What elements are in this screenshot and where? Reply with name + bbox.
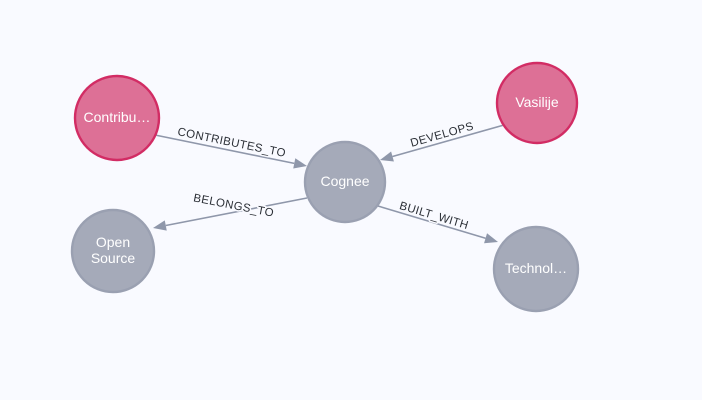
node-label-vasilije: Vasilije <box>515 94 559 110</box>
node-label-cognee: Cognee <box>320 173 369 189</box>
graph-visualization[interactable]: Contribu…VasilijeCogneeOpenSourceTechnol… <box>0 0 702 400</box>
node-label-technology: Technol… <box>505 260 567 276</box>
edge-arrowhead-contributes_to <box>293 158 307 168</box>
graph-canvas[interactable]: Contribu…VasilijeCogneeOpenSourceTechnol… <box>0 0 702 400</box>
edge-label-built_with: BUILT_WITH <box>398 200 470 232</box>
node-label-open_source: OpenSource <box>91 234 136 266</box>
edge-label-belongs_to: BELONGS_TO <box>192 192 275 219</box>
edge-arrowhead-belongs_to <box>153 220 167 230</box>
graph-node-cognee[interactable]: Cognee <box>305 142 385 222</box>
graph-node-vasilije[interactable]: Vasilije <box>497 63 577 143</box>
graph-node-contributor[interactable]: Contribu… <box>75 76 159 160</box>
node-label-contributor: Contribu… <box>84 109 151 125</box>
nodes-layer: Contribu…VasilijeCogneeOpenSourceTechnol… <box>72 63 578 311</box>
edge-arrowhead-develops <box>380 151 394 161</box>
graph-node-technology[interactable]: Technol… <box>494 227 578 311</box>
edge-arrowhead-built_with <box>484 233 498 243</box>
graph-node-open_source[interactable]: OpenSource <box>72 210 154 292</box>
